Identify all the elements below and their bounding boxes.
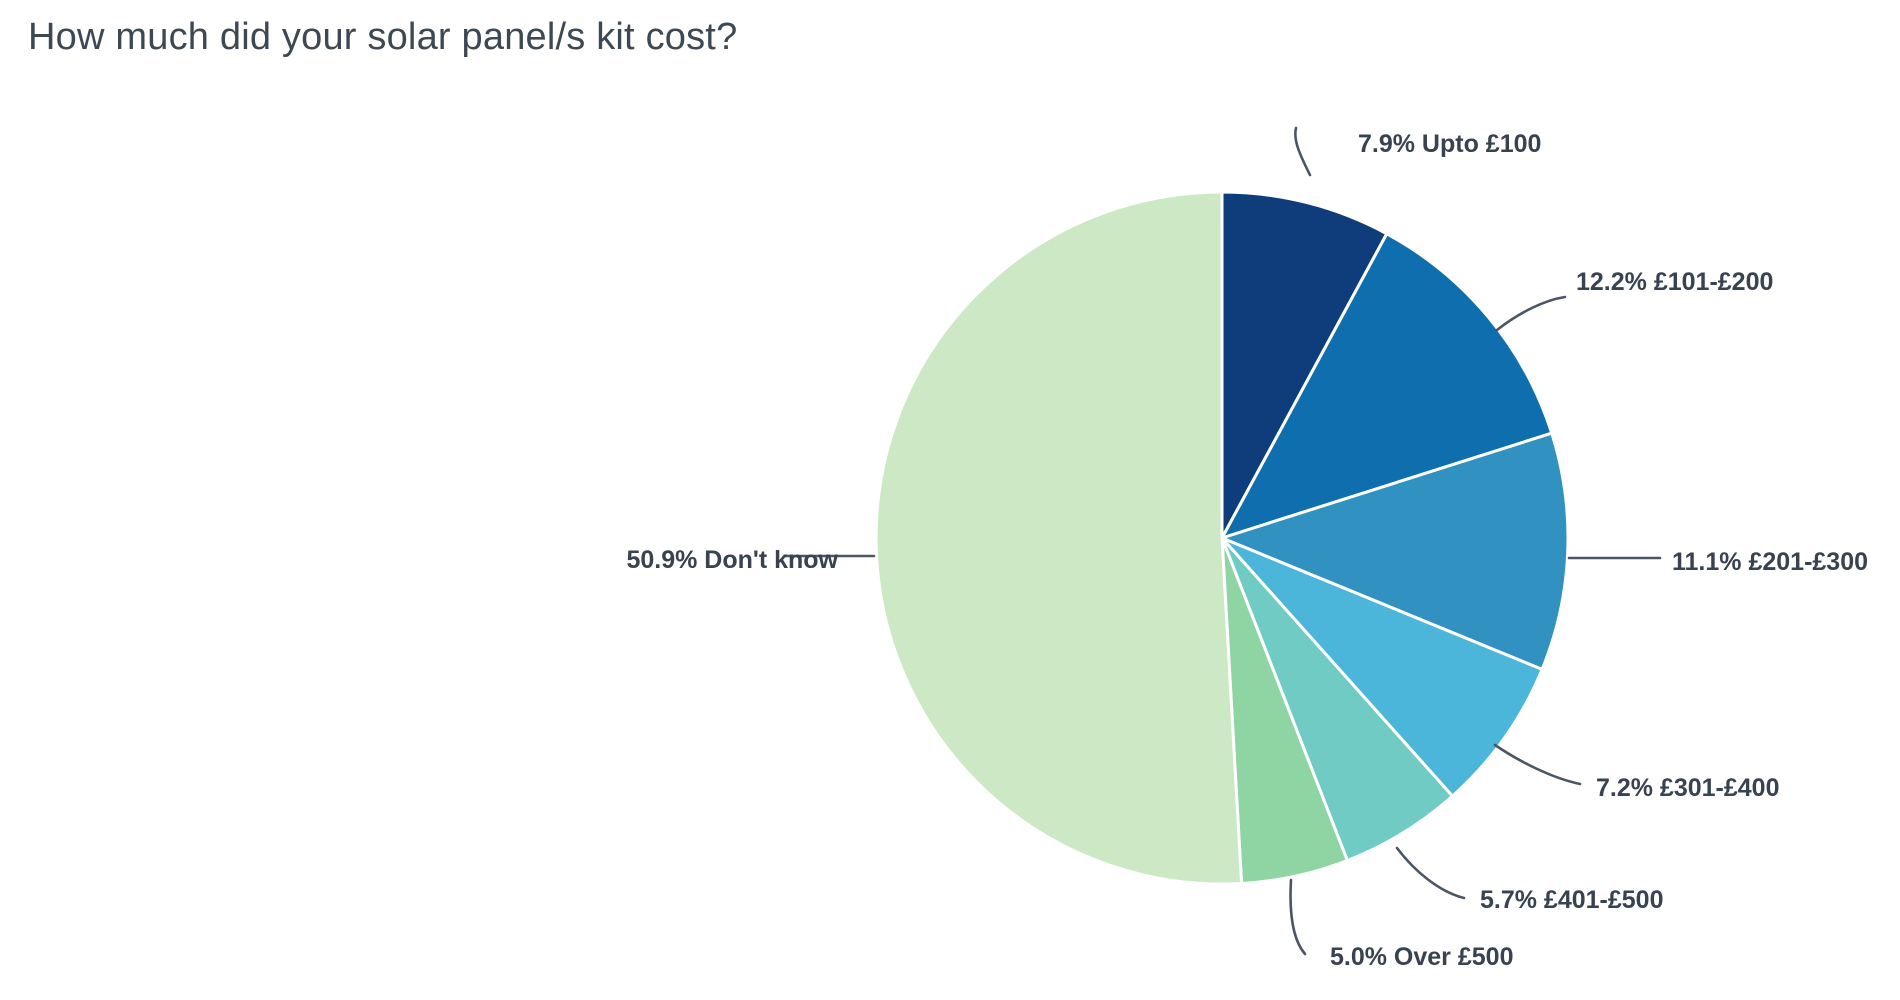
leader-line-301-400 [1495, 745, 1580, 784]
leader-line-over-500 [1291, 880, 1305, 954]
leader-line-upto-100 [1295, 128, 1310, 175]
pie-slices-group [876, 192, 1568, 884]
slice-label-101-200: 12.2% £101-£200 [1576, 268, 1773, 296]
slice-label-301-400: 7.2% £301-£400 [1596, 774, 1779, 802]
leader-line-101-200 [1497, 297, 1565, 330]
slice-label-upto-100: 7.9% Upto £100 [1358, 130, 1541, 158]
slice-label-over-500: 5.0% Over £500 [1330, 943, 1513, 971]
pie-slice-dont-know[interactable] [876, 192, 1242, 884]
pie-chart-panel: How much did your solar panel/s kit cost… [0, 0, 1900, 1000]
slice-label-201-300: 11.1% £201-£300 [1672, 548, 1868, 576]
slice-label-401-500: 5.7% £401-£500 [1480, 886, 1663, 914]
pie-chart-svg: 7.9% Upto £10012.2% £101-£20011.1% £201-… [0, 0, 1900, 1000]
slice-label-dont-know: 50.9% Don't know [626, 546, 838, 574]
leader-line-401-500 [1397, 848, 1464, 898]
